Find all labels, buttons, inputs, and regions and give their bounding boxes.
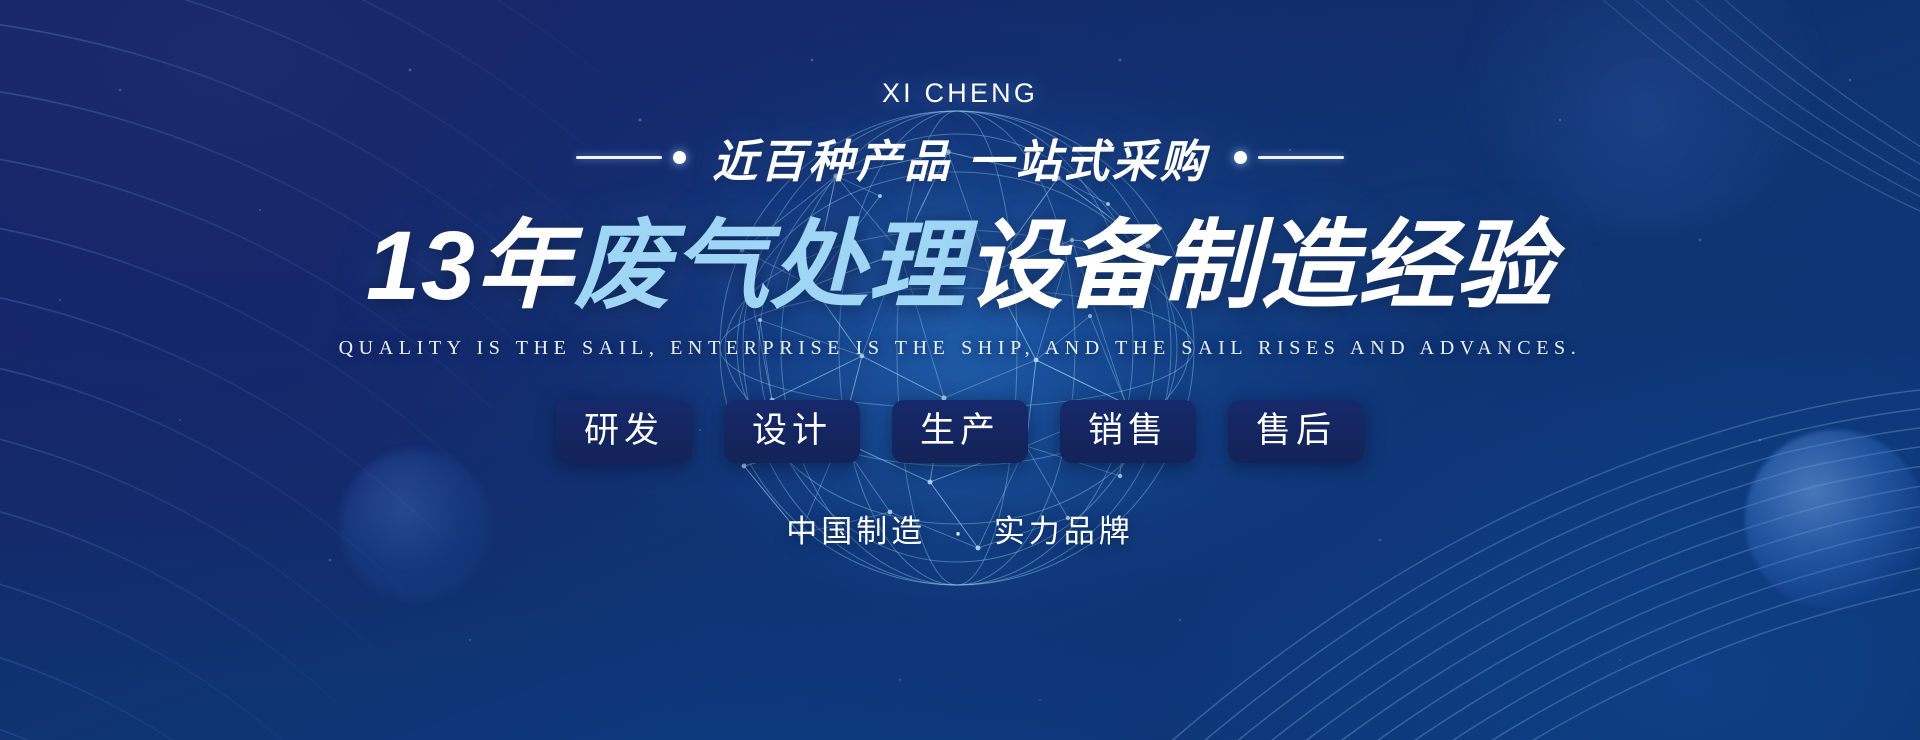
decor-line-left bbox=[576, 151, 686, 164]
brand-name-english: XI CHENG bbox=[882, 78, 1038, 109]
service-pill-list: 研发 设计 生产 销售 售后 bbox=[556, 400, 1364, 463]
service-pill-design[interactable]: 设计 bbox=[724, 400, 860, 463]
headline-part-years: 13年 bbox=[366, 211, 574, 320]
banner-headline: 13年废气处理设备制造经验 bbox=[366, 212, 1554, 321]
banner-tagline-english: QUALITY IS THE SAIL, ENTERPRISE IS THE S… bbox=[339, 337, 1582, 360]
banner-subtitle: 近百种产品 一站式采购 bbox=[712, 125, 1208, 190]
hero-banner: XI CHENG 近百种产品 一站式采购 13年废气处理设备制造经验 QUALI… bbox=[0, 0, 1920, 740]
subtitle-row: 近百种产品 一站式采购 bbox=[576, 125, 1344, 190]
headline-part-rest: 设备制造经验 bbox=[966, 211, 1554, 320]
decor-line-right bbox=[1234, 151, 1344, 164]
service-pill-sales[interactable]: 销售 bbox=[1060, 400, 1196, 463]
service-pill-aftersales[interactable]: 售后 bbox=[1228, 400, 1364, 463]
service-pill-rd[interactable]: 研发 bbox=[556, 400, 692, 463]
headline-part-highlight: 废气处理 bbox=[574, 211, 966, 320]
footer-separator-dot: · bbox=[939, 514, 981, 549]
footer-left-text: 中国制造 bbox=[786, 514, 926, 549]
service-pill-production[interactable]: 生产 bbox=[892, 400, 1028, 463]
banner-content: XI CHENG 近百种产品 一站式采购 13年废气处理设备制造经验 QUALI… bbox=[0, 0, 1920, 740]
footer-right-text: 实力品牌 bbox=[994, 514, 1134, 549]
banner-footer-line: 中国制造 · 实力品牌 bbox=[786, 506, 1134, 551]
